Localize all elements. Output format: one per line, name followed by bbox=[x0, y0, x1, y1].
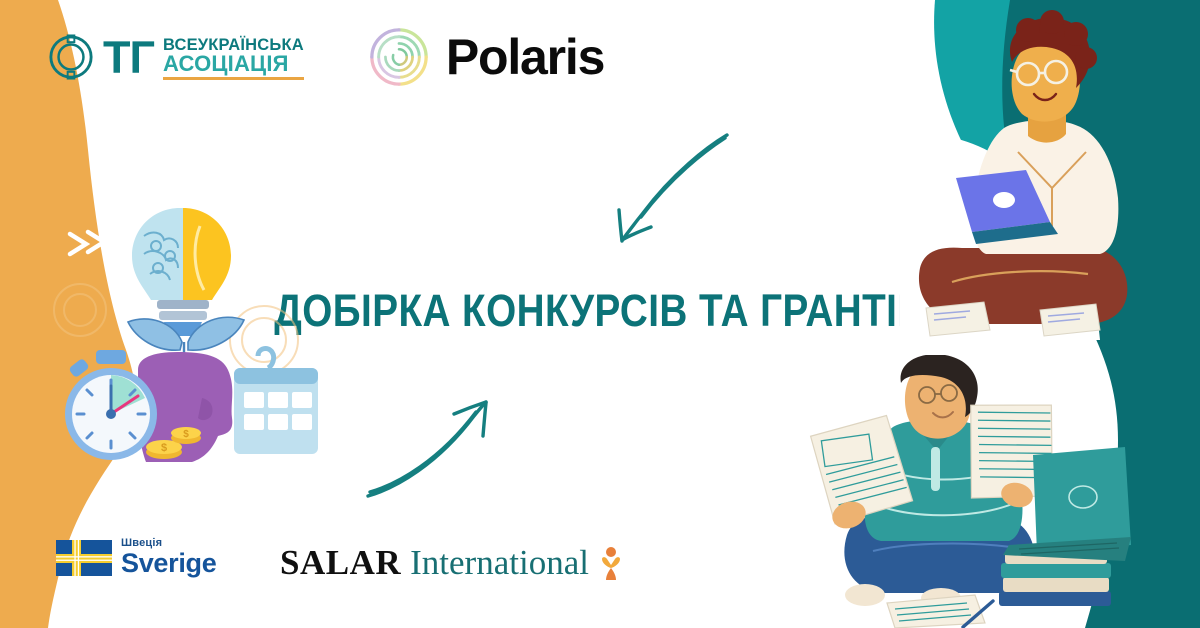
svg-text:$: $ bbox=[183, 429, 189, 440]
calendar-icon bbox=[234, 349, 318, 454]
sverige-wordmark: Швеція Sverige bbox=[121, 538, 216, 577]
otg-ring-icon bbox=[48, 34, 94, 80]
header-logos: ТГ ВСЕУКРАЇНСЬКА АСОЦІАЦІЯ bbox=[48, 26, 604, 88]
salar-international-logo: SALAR International bbox=[280, 543, 624, 583]
idea-head-lightbulb-illustration: $ $ bbox=[52, 190, 322, 470]
person-with-laptop-illustration bbox=[900, 10, 1200, 340]
international-word: International bbox=[410, 543, 589, 583]
sweden-flag-icon bbox=[56, 540, 112, 576]
otg-line-2: АСОЦІАЦІЯ bbox=[163, 53, 304, 75]
curved-arrow-down-icon bbox=[595, 125, 745, 255]
sverige-logo: Швеція Sverige bbox=[56, 538, 216, 577]
curved-arrow-up-icon bbox=[362, 392, 512, 507]
otg-underline bbox=[163, 77, 304, 80]
polaris-spiral-icon bbox=[368, 26, 430, 88]
polaris-wordmark: Polaris bbox=[446, 32, 604, 82]
polaris-logo: Polaris bbox=[368, 26, 604, 88]
salar-word: SALAR bbox=[280, 543, 401, 583]
otg-association-logo: ТГ ВСЕУКРАЇНСЬКА АСОЦІАЦІЯ bbox=[48, 34, 304, 80]
otg-wordmark: ВСЕУКРАЇНСЬКА АСОЦІАЦІЯ bbox=[163, 35, 304, 80]
poster-canvas: ТГ ВСЕУКРАЇНСЬКА АСОЦІАЦІЯ bbox=[0, 0, 1200, 628]
otg-letters: ТГ bbox=[103, 35, 154, 80]
svg-text:$: $ bbox=[161, 442, 167, 454]
salar-person-icon bbox=[598, 546, 624, 580]
sverige-line-2: Sverige bbox=[121, 550, 216, 577]
person-with-documents-illustration bbox=[795, 355, 1135, 628]
